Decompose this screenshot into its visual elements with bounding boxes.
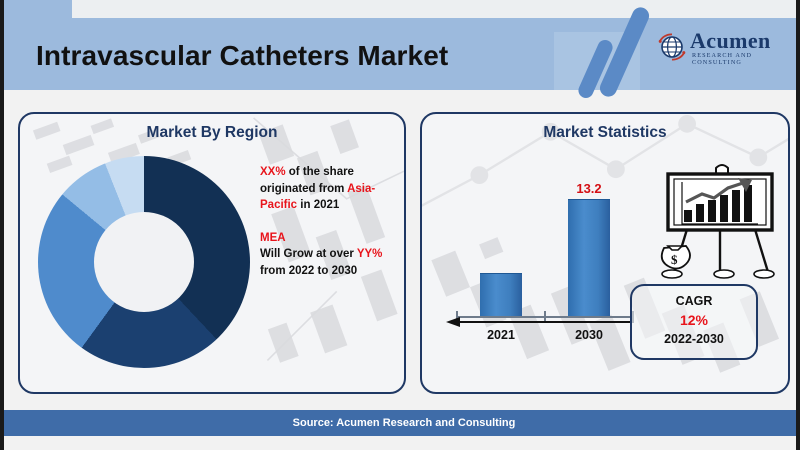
- panel-title-statistics: Market Statistics: [422, 124, 788, 142]
- bar-2030: [568, 199, 610, 316]
- logo-wordmark: Acumen: [690, 28, 771, 54]
- cagr-range: 2022-2030: [632, 332, 756, 346]
- money-bag-icon: $: [662, 246, 690, 269]
- market-statistics-panel: Market Statistics 13.2 2021 2030: [420, 112, 790, 394]
- cagr-label: CAGR: [632, 294, 756, 308]
- fact-1-lead: XX%: [260, 166, 286, 178]
- panel-title-region: Market By Region: [20, 124, 404, 142]
- svg-text:$: $: [671, 252, 678, 267]
- bar-label-2030: 2030: [559, 328, 619, 342]
- header-corner-notch: [4, 0, 72, 18]
- page-title: Intravascular Catheters Market: [36, 36, 556, 76]
- donut-center-hole: [94, 212, 194, 312]
- footer-bottom-strip: [4, 436, 800, 450]
- infographic-poster: Intravascular Catheters Market Acumen RE…: [0, 0, 800, 450]
- source-note: Source: Acumen Research and Consulting: [4, 410, 800, 436]
- cagr-callout-box: CAGR 12% 2022-2030: [630, 284, 758, 360]
- region-facts: XX% of the share originated from Asia-Pa…: [260, 164, 400, 295]
- bar-2021: [480, 273, 522, 316]
- bar-value-2030: 13.2: [559, 181, 619, 196]
- fact-2-rest: Will Grow at over: [260, 248, 357, 260]
- fact-2-lead: MEA: [260, 230, 400, 247]
- cagr-value: 12%: [632, 312, 756, 328]
- fact-2-highlight: YY%: [357, 248, 383, 260]
- fact-2-tail: from 2022 to 2030: [260, 265, 357, 277]
- logo-tagline: RESEARCH AND CONSULTING: [692, 52, 798, 66]
- market-statistics-bar-chart: 13.2 2021 2030: [456, 170, 646, 360]
- market-by-region-donut-chart: [38, 156, 250, 368]
- acumen-logo: Acumen RESEARCH AND CONSULTING: [656, 26, 798, 70]
- fact-mea: MEA Will Grow at over YY% from 2022 to 2…: [260, 230, 400, 280]
- cagr-arrow: [444, 316, 634, 328]
- header-top-strip: [72, 0, 800, 18]
- globe-icon: [656, 31, 688, 63]
- fact-1-tail: in 2021: [297, 199, 339, 211]
- fact-asia-pacific: XX% of the share originated from Asia-Pa…: [260, 164, 400, 214]
- bar-label-2021: 2021: [471, 328, 531, 342]
- market-by-region-panel: Market By Region XX% of the share origin…: [18, 112, 406, 394]
- easel-growth-chart-illustration: $: [658, 156, 780, 284]
